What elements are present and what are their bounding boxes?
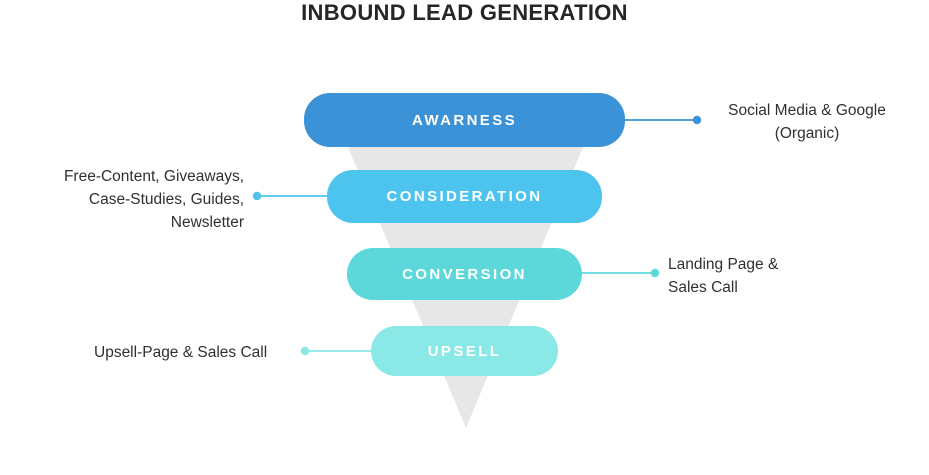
funnel-stage-label-awareness: AWARNESS — [412, 112, 517, 129]
funnel-diagram-canvas: INBOUND LEAD GENERATION AWARNESS CONSIDE… — [0, 0, 929, 475]
funnel-stage-label-conversion: CONVERSION — [402, 266, 527, 283]
page-title: INBOUND LEAD GENERATION — [0, 0, 929, 26]
funnel-stage-upsell[interactable]: UPSELL — [371, 326, 558, 376]
annotation-upsell: Upsell-Page & Sales Call — [94, 341, 294, 364]
annotation-consideration: Free-Content, Giveaways, Case-Studies, G… — [28, 165, 244, 234]
funnel-background-shape — [0, 0, 929, 475]
funnel-stage-awareness[interactable]: AWARNESS — [304, 93, 625, 147]
connector-dot-consideration — [253, 192, 261, 200]
funnel-stage-label-consideration: CONSIDERATION — [387, 188, 543, 205]
annotation-awareness: Social Media & Google (Organic) — [707, 99, 907, 145]
funnel-stage-label-upsell: UPSELL — [428, 343, 502, 360]
connector-dot-upsell — [301, 347, 309, 355]
connector-dot-conversion — [651, 269, 659, 277]
connector-dot-awareness — [693, 116, 701, 124]
funnel-stage-conversion[interactable]: CONVERSION — [347, 248, 582, 300]
annotation-conversion: Landing Page & Sales Call — [668, 253, 868, 299]
connector-lines-group — [0, 0, 929, 475]
funnel-stage-consideration[interactable]: CONSIDERATION — [327, 170, 602, 223]
